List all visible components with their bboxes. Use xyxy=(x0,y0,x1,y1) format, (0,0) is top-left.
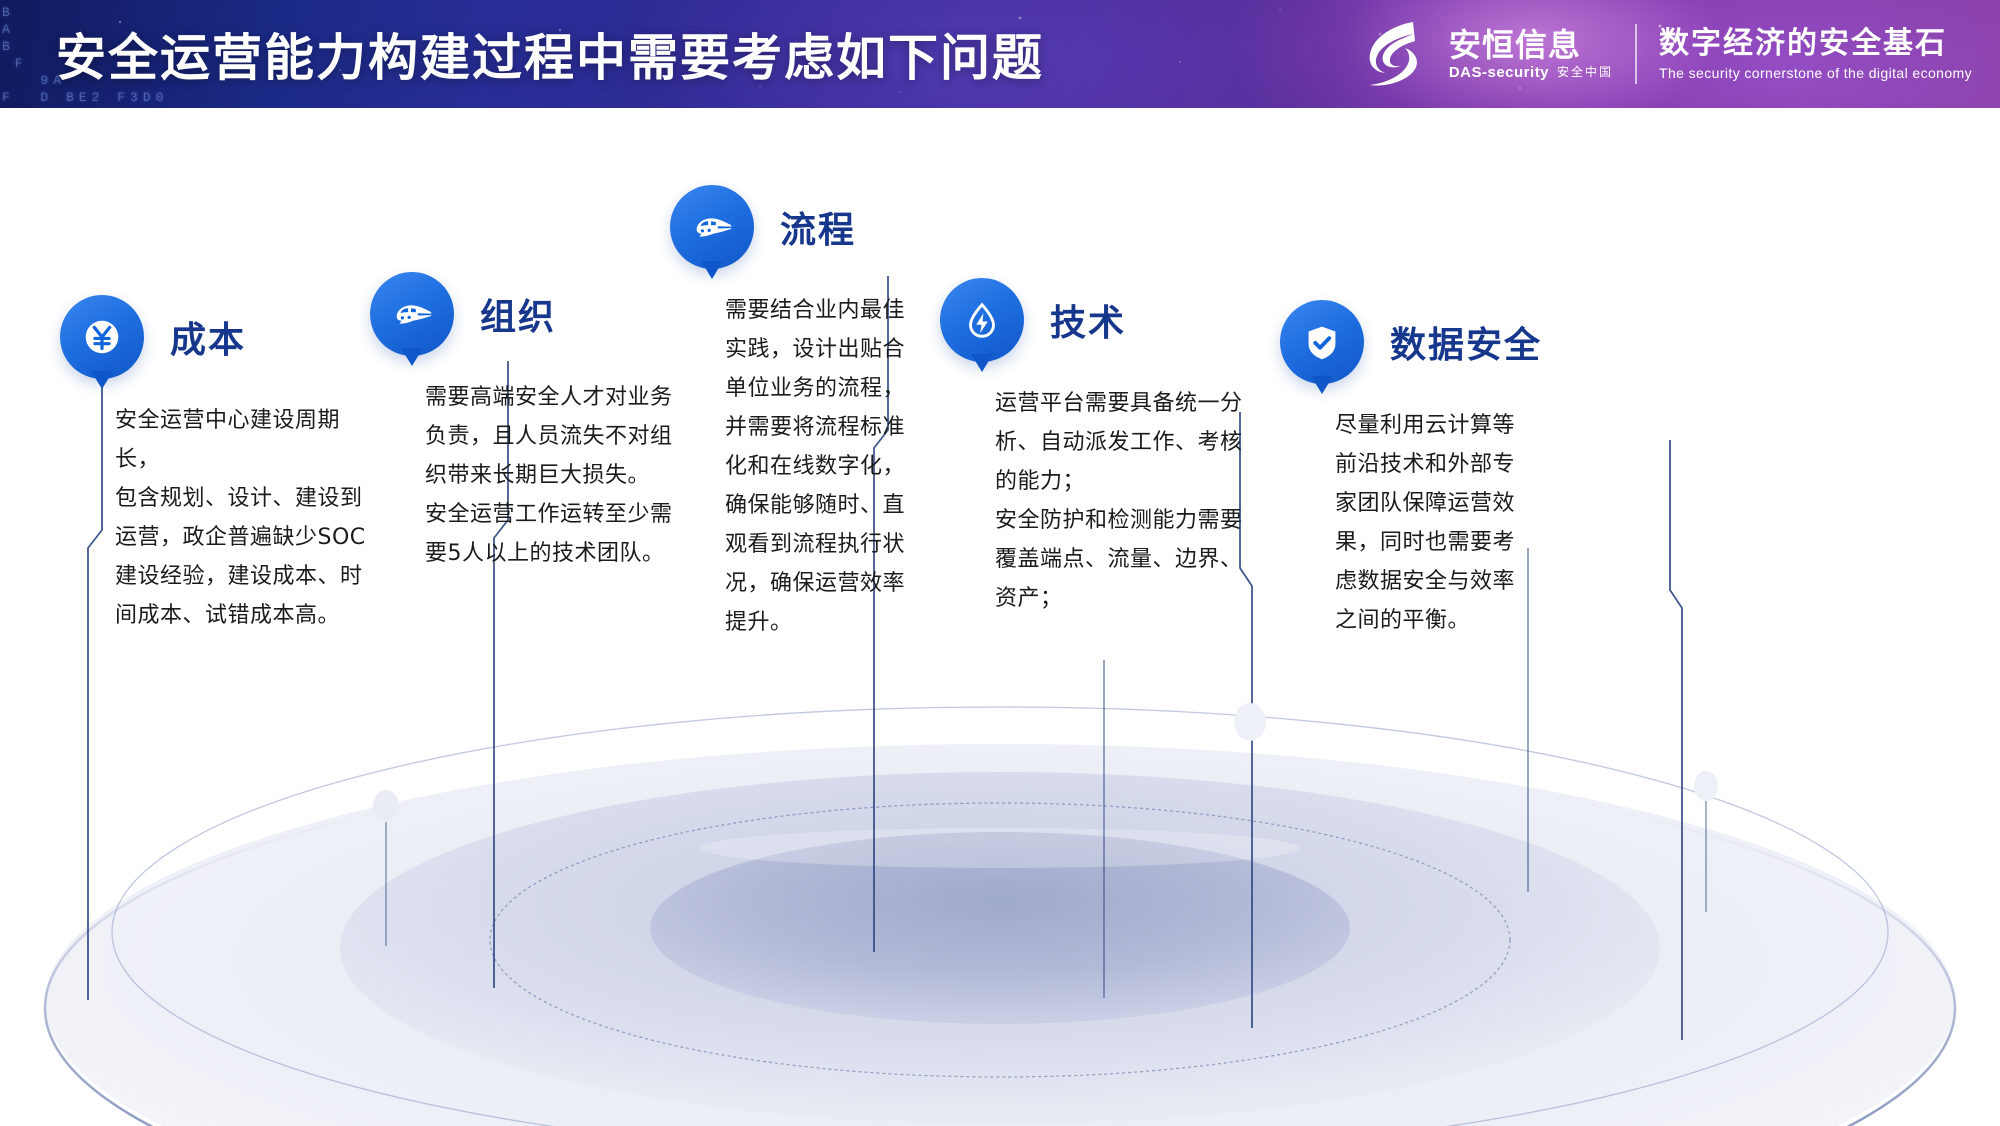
topic-title-organization: 组织 xyxy=(480,288,556,340)
slide-root: B A B F 9A F D BE2 F3D0 4 5926 4 5 安全运营能… xyxy=(0,0,2000,1126)
das-security-swirl-logo-icon xyxy=(1361,18,1427,90)
topic-body-cost: 安全运营中心建设周期长， 包含规划、设计、建设到 运营，政企普遍缺少SOC 建设… xyxy=(115,401,380,635)
brand-tagline-cn: 安全中国 xyxy=(1557,66,1613,78)
header-banner: B A B F 9A F D BE2 F3D0 4 5926 4 5 安全运营能… xyxy=(0,0,2000,108)
topic-title-data-security: 数据安全 xyxy=(1390,316,1542,368)
topic-item-technology[interactable]: 技术 运营平台需要具备统一分 析、自动派发工作、考核 的能力； 安全防护和检测能… xyxy=(940,278,1205,596)
logo-divider xyxy=(1635,24,1637,84)
page-title: 安全运营能力构建过程中需要考虑如下问题 xyxy=(56,18,1044,90)
brand-slogan-block: 数字经济的安全基石 The security cornerstone of th… xyxy=(1659,29,1972,80)
brand-name-block: 安恒信息 DAS-security 安全中国 xyxy=(1449,29,1613,80)
topic-item-process[interactable]: 流程 需要结合业内最佳 实践，设计出贴合 单位业务的流程， 并需要将流程标准 化… xyxy=(670,185,870,620)
floating-dot xyxy=(1694,771,1718,801)
topic-header-process: 流程 xyxy=(670,185,870,269)
brand-slogan-en: The security cornerstone of the digital … xyxy=(1659,66,1972,80)
topic-body-technology: 运营平台需要具备统一分 析、自动派发工作、考核 的能力； 安全防护和检测能力需要… xyxy=(995,384,1260,618)
topic-title-technology: 技术 xyxy=(1050,294,1126,346)
floating-dot xyxy=(1234,703,1266,741)
topic-title-cost: 成本 xyxy=(170,311,246,363)
topic-body-data-security: 尽量利用云计算等 前沿技术和外部专 家团队保障运营效 果，同时也需要考 虑数据安… xyxy=(1335,406,1595,640)
topic-item-cost[interactable]: 成本 安全运营中心建设周期长， 包含规划、设计、建设到 运营，政企普遍缺少SOC… xyxy=(60,295,325,613)
topic-header-data-security: 数据安全 xyxy=(1280,300,1542,384)
brand-name-en: DAS-security xyxy=(1449,65,1549,80)
topic-item-data-security[interactable]: 数据安全 尽量利用云计算等 前沿技术和外部专 家团队保障运营效 果，同时也需要考… xyxy=(1280,300,1542,618)
bullet-train-icon[interactable] xyxy=(670,185,754,269)
shield-check-icon[interactable] xyxy=(1280,300,1364,384)
topic-header-cost: 成本 xyxy=(60,295,325,379)
floating-dot xyxy=(373,790,399,822)
topic-body-process: 需要结合业内最佳 实践，设计出贴合 单位业务的流程， 并需要将流程标准 化和在线… xyxy=(725,291,925,642)
topic-item-organization[interactable]: 组织 需要高端安全人才对业务 负责，且人员流失不对组 织带来长期巨大损失。 安全… xyxy=(370,272,630,551)
brand-slogan-cn: 数字经济的安全基石 xyxy=(1659,29,1972,59)
droplet-lightning-icon[interactable] xyxy=(940,278,1024,362)
topic-header-technology: 技术 xyxy=(940,278,1205,362)
topic-body-organization: 需要高端安全人才对业务 负责，且人员流失不对组 织带来长期巨大损失。 安全运营工… xyxy=(425,378,685,573)
topic-header-organization: 组织 xyxy=(370,272,630,356)
brand-logo: 安恒信息 DAS-security 安全中国 数字经济的安全基石 The sec… xyxy=(1361,12,1972,96)
bullet-train-icon[interactable] xyxy=(370,272,454,356)
topic-title-process: 流程 xyxy=(780,201,856,253)
yen-currency-icon[interactable] xyxy=(60,295,144,379)
brand-name-cn: 安恒信息 xyxy=(1449,29,1613,61)
